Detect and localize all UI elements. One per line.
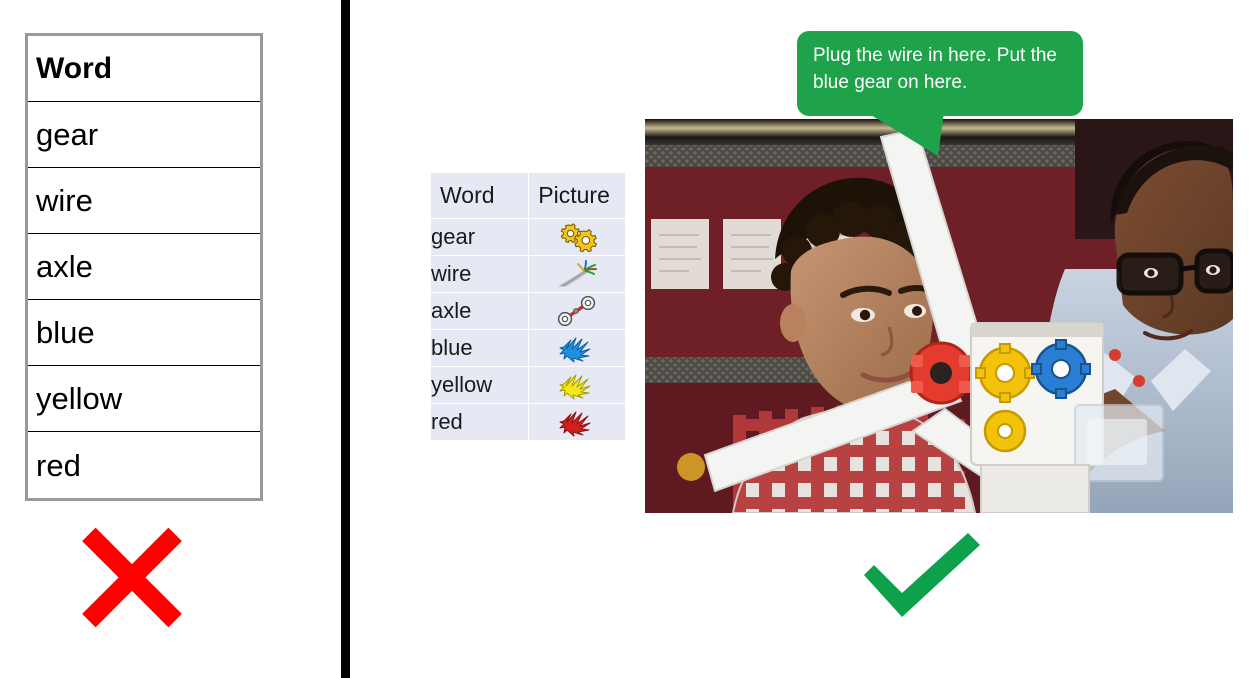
blue-scribble-swatch: [529, 330, 626, 367]
speech-bubble-tail: [866, 112, 946, 160]
table-row: yellow: [431, 367, 626, 404]
left-table-cell-word: axle: [36, 251, 93, 282]
red-scribble-swatch: [529, 404, 626, 441]
table-row: gear: [431, 219, 626, 256]
table-header-row: Word: [28, 36, 260, 102]
right-table-cell-word: gear: [431, 219, 529, 256]
left-table-cell-word: blue: [36, 317, 95, 348]
table-row: red: [431, 404, 626, 441]
right-table-header-picture: Picture: [529, 173, 626, 219]
table-header-row: Word Picture: [431, 173, 626, 219]
right-table-cell-word: wire: [431, 256, 529, 293]
right-table-cell-word: axle: [431, 293, 529, 330]
classroom-photo: [645, 119, 1233, 513]
table-row: axle: [431, 293, 626, 330]
speech-bubble-text: Plug the wire in here. Put the blue gear…: [813, 43, 1067, 97]
table-row: blue: [28, 300, 260, 366]
table-row: wire: [28, 168, 260, 234]
table-row: axle: [28, 234, 260, 300]
left-table-cell-word: gear: [36, 119, 98, 150]
table-row: gear: [28, 102, 260, 168]
right-table-cell-word: red: [431, 404, 529, 441]
red-x-icon: [84, 529, 180, 625]
table-row: wire: [431, 256, 626, 293]
two-yellow-gears-icon: [529, 219, 626, 256]
left-word-table: Word gear wire axle blue yellow red: [25, 33, 263, 501]
right-word-picture-table: Word Picture gear wire: [430, 172, 626, 441]
table-row: red: [28, 432, 260, 498]
left-table-cell-word: yellow: [36, 383, 122, 414]
axle-with-wheels-icon: [529, 293, 626, 330]
left-table-header-word: Word: [36, 54, 112, 84]
right-table-cell-word: blue: [431, 330, 529, 367]
green-check-icon: [856, 531, 988, 623]
table-row: blue: [431, 330, 626, 367]
table-row: yellow: [28, 366, 260, 432]
right-table-header-word: Word: [431, 173, 529, 219]
stripped-wire-icon: [529, 256, 626, 293]
right-table-cell-word: yellow: [431, 367, 529, 404]
yellow-scribble-swatch: [529, 367, 626, 404]
left-table-cell-word: red: [36, 450, 81, 481]
speech-bubble: Plug the wire in here. Put the blue gear…: [797, 31, 1083, 116]
left-table-cell-word: wire: [36, 185, 93, 216]
panel-divider: [341, 0, 350, 678]
